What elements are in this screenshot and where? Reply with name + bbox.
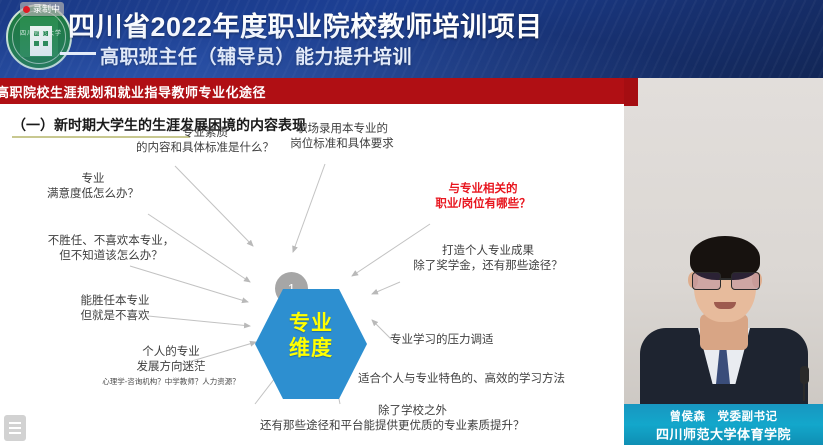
label-not-like-l1: 不胜任、不喜欢本专业， [16,234,206,249]
label-achievement-l1: 打造个人专业成果 [388,244,588,259]
label-direction-l1: 个人的专业 [96,345,246,360]
label-achievement-l2: 除了奖学金，还有那些途径？ [388,259,588,274]
label-direction: 个人的专业 发展方向迷茫 心理学-咨询机构？中学教师？人力资源？ [96,345,246,387]
label-outside-school-l1: 除了学校之外 [378,404,447,419]
label-job-standard-l1: 职场录用本专业的 [262,122,422,137]
header-dash [60,52,96,55]
microphone-icon [800,366,809,384]
label-competent-l2: 但就是不喜欢 [40,309,190,324]
speaker-name-bar: 曾侯森 党委副书记 四川师范大学体育学院 [624,404,823,445]
logo-university-name: 四川师范大学 [17,28,65,37]
label-not-like: 不胜任、不喜欢本专业， 但不知道该怎么办？ [16,234,206,264]
recording-badge: 录制中 [20,2,64,16]
label-job-standard: 职场录用本专业的 岗位标准和具体要求 [262,122,422,152]
speaker-mouth [714,302,736,309]
logo-ring [12,10,66,64]
record-dot-icon [23,6,30,13]
logo-building-icon [30,26,52,56]
center-hexagon: 专业 维度 [255,289,367,399]
header-banner: 四川师范大学 录制中 四川省2022年度职业院校教师培训项目 高职班主任（辅导员… [0,0,823,78]
logo-inner [20,17,58,57]
label-study-method: 适合个人与专业特色的、高效的学习方法 [358,372,565,387]
header-texture [0,0,823,78]
label-outside-school-l2: 还有那些途径和平台能提供更优质的专业素质提升？ [260,419,525,434]
label-not-like-l2: 但不知道该怎么办？ [16,249,206,264]
recording-label: 录制中 [33,4,60,14]
label-direction-note: 心理学-咨询机构？中学教师？人力资源？ [96,377,246,387]
hexagon-label: 专业 维度 [255,311,367,361]
mindmap-diagram: 1 专业 维度 专业素质 的内容和具体标准是什么？ 职场录用本专业的 岗位标准和… [0,104,624,445]
label-competent: 能胜任本专业 但就是不喜欢 [40,294,190,324]
label-pressure: 专业学习的压力调适 [390,333,494,348]
screen-root: 四川师范大学 录制中 四川省2022年度职业院校教师培训项目 高职班主任（辅导员… [0,0,823,445]
header-title: 四川省2022年度职业院校教师培训项目 [68,5,543,44]
slide-area: 高职院校生涯规划和就业指导教师专业化途径 （一）新时期大学生的生涯发展困境的内容… [0,78,624,445]
label-satisfaction-l1: 专业 [28,172,158,187]
label-related-jobs: 与专业相关的 职业/岗位有哪些？ [398,182,568,212]
label-direction-l2: 发展方向迷茫 [96,360,246,375]
slide-red-bar: 高职院校生涯规划和就业指导教师专业化途径 [0,78,624,104]
label-related-jobs-l1: 与专业相关的 [398,182,568,197]
speaker-video-panel[interactable]: Lenovo 曾侯森 党委副书记 四川师范大学体育学院 [624,78,823,445]
label-satisfaction: 专业 满意度低怎么办？ [28,172,158,202]
hexagon-label-line1: 专业 [255,311,367,336]
label-pressure-l1: 专业学习的压力调适 [390,333,494,348]
speaker-org: 四川师范大学体育学院 [624,424,823,443]
glasses-icon [692,272,758,288]
label-related-jobs-l2: 职业/岗位有哪些？ [398,197,568,212]
label-job-standard-l2: 岗位标准和具体要求 [262,137,422,152]
label-study-method-l1: 适合个人与专业特色的、高效的学习方法 [358,372,565,387]
slide-red-bar-text: 高职院校生涯规划和就业指导教师专业化途径 [0,82,266,101]
video-red-block [624,78,638,106]
hexagon-label-line2: 维度 [255,336,367,361]
university-logo: 四川师范大学 [6,4,72,70]
label-satisfaction-l2: 满意度低怎么办？ [28,187,158,202]
speaker-name: 曾侯森 党委副书记 [624,408,823,424]
label-achievement: 打造个人专业成果 除了奖学金，还有那些途径？ [388,244,588,274]
list-icon-top[interactable] [4,415,26,441]
header-subtitle: 高职班主任（辅导员）能力提升培训 [100,42,412,69]
label-competent-l1: 能胜任本专业 [40,294,190,309]
